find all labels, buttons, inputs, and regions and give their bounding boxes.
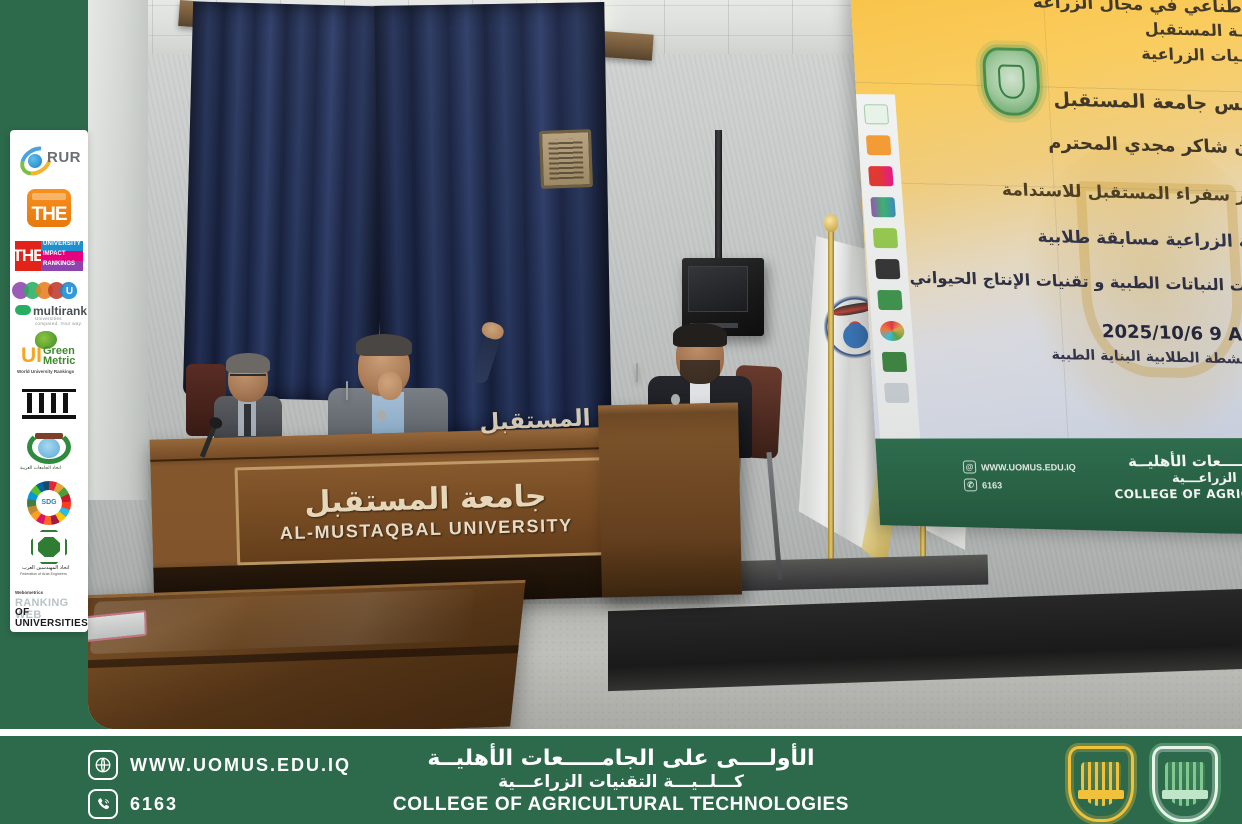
banner-logo-chip-2 (866, 135, 892, 155)
event-backdrop-banner: طناعي في مجال الزراعة ـة المستقبل ـيات ا… (850, 0, 1242, 535)
foreground-table (88, 580, 526, 729)
banner-line-5: ن شاكر مجدي المحترم (868, 128, 1242, 158)
banner-logo-chip-3 (868, 166, 894, 186)
banner-logo-chip-4 (870, 197, 896, 217)
banner-line-4: ـس جامعة المستقبل (865, 84, 1242, 115)
the-university-impact-rankings-logo: THE UNIVERSITY IMPACT RANKINGS (15, 234, 83, 277)
greenmetric-line-metric: Metric (43, 355, 75, 367)
graduation-cap-icon (35, 433, 63, 439)
banner-strip-ar2: تقنيات الزراعـــية (1113, 471, 1242, 486)
the-logo-bar (32, 193, 66, 200)
impact-line-university: UNIVERSITY (41, 241, 83, 251)
u-multirank-logo: U multirank Universities compared. Your … (15, 282, 83, 326)
association-of-arab-universities-logo: اتحاد الجامعات العربية (15, 430, 83, 476)
accreditation-logo-sidebar: RUR THE THE UNIVERSITY IMPACT RANKINGS (10, 130, 88, 632)
the-wordmark: THE (32, 205, 67, 224)
poster-page: طناعي في مجال الزراعة ـة المستقبل ـيات ا… (0, 0, 1242, 824)
footer-college-english: COLLEGE OF AGRICULTURAL TECHNOLOGIES (0, 794, 1242, 816)
rur-ranking-logo: RUR (15, 138, 83, 181)
footer-college-arabic: كـــلــيـــة التقنيات الزراعـــية (0, 772, 1242, 792)
banner-logo-chip-9 (882, 352, 908, 372)
footer-divider (0, 729, 1242, 736)
multirank-pill-icon (15, 305, 31, 315)
banner-line-6: ـر سفراء المستقبل للاستدامة (871, 177, 1242, 206)
banner-line-7: ـة الزراعية مسابقة طلابية (873, 223, 1242, 252)
banner-strip-phone: 6163 (982, 480, 1003, 490)
phone-call-icon: ✆ (964, 478, 978, 491)
the-times-higher-education-logo: THE (15, 186, 83, 229)
rur-wordmark: RUR (47, 149, 81, 166)
ranking-web-of-universities-logo: Webometrics RANKING WEB OF UNIVERSITIES (15, 583, 83, 626)
footer-tagline-arabic: الأولــــى على الجامـــــعات الأهليــة (0, 746, 1242, 771)
banner-strip-website: WWW.UOMUS.EDU.IQ (981, 462, 1076, 472)
banner-line-8: ـات النباتات الطبية و تقنيات الإنتاج الح… (876, 267, 1242, 295)
footer-crest-block (1068, 746, 1218, 822)
banner-logo-chip-7 (877, 290, 903, 310)
globe-icon (28, 154, 42, 168)
apple-logo-icon (377, 410, 386, 421)
conference-hall-photo: طناعي في مجال الزراعة ـة المستقبل ـيات ا… (88, 0, 1242, 729)
banner-logo-chip-1 (864, 104, 890, 124)
wall-vent (539, 129, 593, 189)
al-mustaqbal-university-gold-crest (1068, 746, 1134, 822)
banner-logo-chip-6 (875, 259, 901, 279)
apple-logo-icon (671, 394, 680, 405)
multirank-tagline: Universities compared. Your way. (35, 316, 83, 326)
banner-strip-contact: @ WWW.UOMUS.EDU.IQ ✆ 6163 (963, 460, 1078, 496)
banner-green-strip: @ WWW.UOMUS.EDU.IQ ✆ 6163 الجامـــــعات … (865, 438, 1242, 535)
banner-strip-en: COLLEGE OF AGRICULTU (1114, 487, 1242, 501)
presenter-hair (673, 323, 727, 347)
flag-pole-1 (828, 228, 834, 578)
laptop-left (346, 382, 416, 440)
arab-engineers-label-ar: اتحاد المهندسين العرب (22, 565, 69, 571)
banner-logo-chip-10 (884, 383, 910, 403)
laptop-right-lid (636, 363, 638, 382)
greenmetric-tagline: World University Rankings (17, 369, 74, 374)
the-impact-wordmark: THE (15, 241, 41, 271)
seated-panelist-left (212, 356, 284, 442)
federation-of-arab-engineers-logo: اتحاد المهندسين العرب Federation of Arab… (15, 530, 83, 578)
impact-line-impact: IMPACT (41, 251, 83, 261)
projector-mount-pole (715, 130, 722, 265)
classical-pillars-icon (22, 387, 76, 421)
ranking-web-line-2: OF UNIVERSITIES (15, 607, 88, 629)
footer-title-block: الأولــــى على الجامـــــعات الأهليــة ك… (0, 746, 1242, 816)
banner-logo-chip-8 (879, 321, 905, 341)
laptop-left-lid (346, 381, 348, 400)
flag-finial-1 (824, 214, 838, 232)
ui-greenmetric-logo: UI Green Metric World University Ranking… (15, 331, 83, 377)
sustainable-development-goals-logo (15, 481, 83, 525)
laptop-right (636, 364, 714, 426)
eyeglasses-icon (230, 374, 266, 382)
sdg-color-wheel-icon (27, 481, 71, 525)
arab-engineers-label-en: Federation of Arab Engineers (20, 572, 67, 576)
panelist-left-hair (226, 353, 270, 373)
footer-bar: WWW.UOMUS.EDU.IQ 6163 الأولــــى على الج… (0, 736, 1242, 824)
banner-event-date: 2025/10/6 9 AM (878, 316, 1242, 346)
banner-strip-titles: الجامـــــعات الأهليــة تقنيات الزراعـــ… (1112, 452, 1242, 501)
globe-www-icon: @ (963, 460, 977, 473)
table-gloss (90, 589, 475, 654)
panelist-left-tie (244, 404, 251, 436)
panelist-center-hair (356, 334, 412, 356)
side-lectern (598, 403, 742, 598)
globe-icon (38, 438, 60, 458)
banner-line-2: ـة المستقبل (861, 12, 1242, 40)
banner-line-3: ـيات الزراعية (863, 37, 1242, 65)
webometrics-pillars-logo (15, 382, 83, 425)
banner-text-block: طناعي في مجال الزراعة ـة المستقبل ـيات ا… (860, 0, 1242, 368)
impact-line-rankings: RANKINGS (41, 261, 83, 271)
banner-strip-ar1: الجامـــــعات الأهليــة (1112, 452, 1242, 470)
college-of-agricultural-technologies-green-crest (1152, 746, 1218, 822)
banner-logo-chip-5 (873, 228, 899, 248)
university-name-arabic: جامعة المستقبل (304, 479, 547, 521)
left-wall-strip (88, 0, 148, 500)
dais-nameplate: جامعة المستقبل AL-MUSTAQBAL UNIVERSITY (235, 457, 618, 566)
multirank-u-badge: U (62, 284, 77, 299)
webometrics-prefix: Webometrics (15, 590, 43, 595)
greenmetric-ui-mark: UI (21, 345, 42, 366)
arab-universities-label: اتحاد الجامعات العربية (20, 466, 61, 471)
